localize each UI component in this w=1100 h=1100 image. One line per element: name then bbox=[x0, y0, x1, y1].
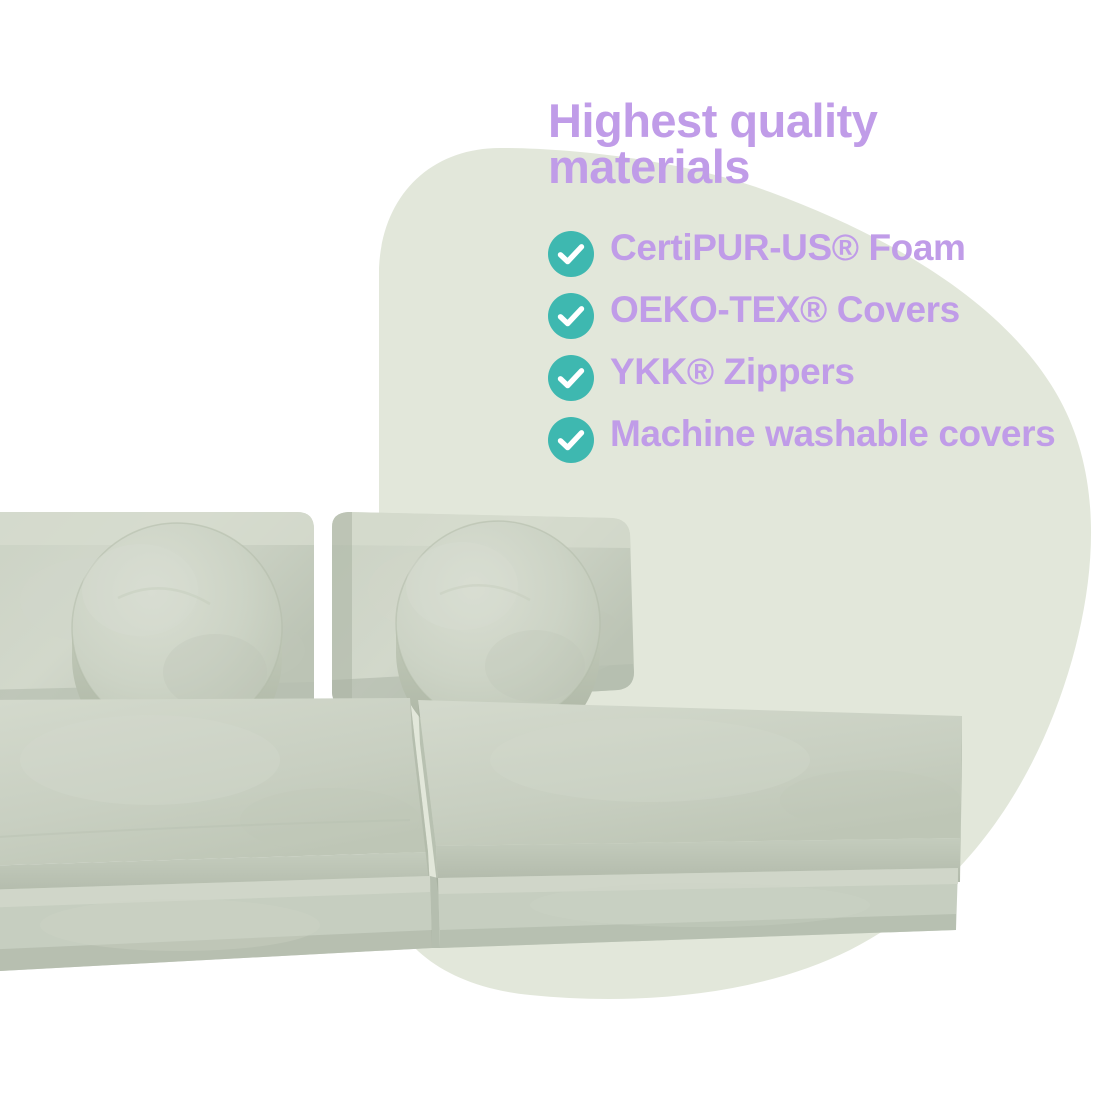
feature-label: OEKO-TEX® Covers bbox=[610, 289, 960, 330]
list-item: Machine washable covers bbox=[548, 413, 1088, 463]
check-circle-icon bbox=[548, 231, 594, 277]
promo-graphic: Highest quality materials CertiPUR-US® F… bbox=[0, 0, 1100, 1100]
list-item: OEKO-TEX® Covers bbox=[548, 289, 1088, 339]
page-title: Highest quality materials bbox=[548, 98, 1088, 189]
feature-label: YKK® Zippers bbox=[610, 351, 855, 392]
check-circle-icon bbox=[548, 293, 594, 339]
list-item: YKK® Zippers bbox=[548, 351, 1088, 401]
feature-label: CertiPUR-US® Foam bbox=[610, 227, 966, 268]
feature-list: CertiPUR-US® Foam OEKO-TEX® Covers bbox=[548, 227, 1088, 463]
check-circle-icon bbox=[548, 417, 594, 463]
check-circle-icon bbox=[548, 355, 594, 401]
feature-label: Machine washable covers bbox=[610, 413, 1055, 454]
list-item: CertiPUR-US® Foam bbox=[548, 227, 1088, 277]
feature-callout-panel: Highest quality materials CertiPUR-US® F… bbox=[548, 98, 1088, 475]
